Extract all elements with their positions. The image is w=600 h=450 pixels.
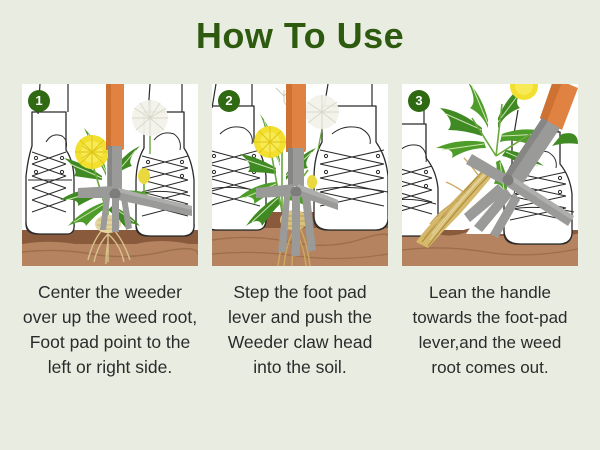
steps-container: 1 Center the weeder over up the weed roo… xyxy=(22,84,578,440)
step-column-2: 2 Step the foot pad lever and push the W… xyxy=(212,84,388,440)
step-column-3: 3 Lean the handle towards the foot-pad l… xyxy=(402,84,578,440)
step-caption-1: Center the weeder over up the weed root,… xyxy=(22,280,198,380)
dandelion-flower xyxy=(75,135,109,169)
step-badge-3: 3 xyxy=(408,90,430,112)
weeder-claw-head xyxy=(278,196,316,256)
weeder-pivot xyxy=(503,175,514,186)
step-column-1: 1 Center the weeder over up the weed roo… xyxy=(22,84,198,440)
weeder-insertion-illustration xyxy=(212,84,388,266)
weed-extraction-illustration xyxy=(402,84,578,266)
step-illustration-2: 2 xyxy=(212,84,388,266)
step-illustration-1: 1 xyxy=(22,84,198,266)
weeder-positioning-illustration xyxy=(22,84,198,266)
how-to-use-infographic: How To Use xyxy=(0,0,600,450)
step-caption-3: Lean the handle towards the foot-pad lev… xyxy=(402,280,578,380)
page-title: How To Use xyxy=(0,14,600,58)
step-illustration-3: 3 xyxy=(402,84,578,266)
step-badge-1: 1 xyxy=(28,90,50,112)
weeder-claw-head xyxy=(100,198,132,232)
step-caption-2: Step the foot pad lever and push the Wee… xyxy=(212,280,388,380)
step-badge-2: 2 xyxy=(218,90,240,112)
weeder-pivot xyxy=(291,187,302,198)
dandelion-flower xyxy=(254,126,286,158)
weeder-pivot xyxy=(110,189,121,200)
